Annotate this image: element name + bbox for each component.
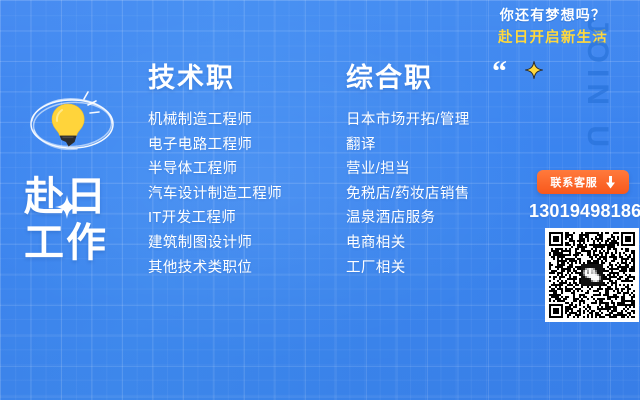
job-item: 电商相关 <box>346 231 470 256</box>
job-column-technical: 技术职 机械制造工程师 电子电路工程师 半导体工程师 汽车设计制造工程师 IT开… <box>148 62 282 280</box>
contact-support-label: 联系客服 <box>550 174 597 190</box>
job-item: 电子电路工程师 <box>148 133 282 158</box>
brand-block: 赴日 工作 <box>0 88 150 266</box>
arrow-down-icon <box>605 176 616 189</box>
job-item: IT开发工程师 <box>148 206 282 231</box>
job-item: 半导体工程师 <box>148 157 282 182</box>
lightbulb-icon <box>22 88 122 160</box>
job-item: 翻译 <box>346 133 470 158</box>
column-heading-technical: 技术职 <box>148 62 282 94</box>
join-us-vertical-text: JOIN U <box>580 17 614 153</box>
job-item: 机械制造工程师 <box>148 108 282 133</box>
lightbulb-badge <box>22 88 122 160</box>
poster-canvas: 赴日 工作 技术职 机械制造工程师 电子电路工程师 半导体工程师 汽车设计制造工… <box>0 0 640 400</box>
quote-mark-icon: “ <box>492 57 506 87</box>
job-item: 日本市场开拓/管理 <box>346 108 470 133</box>
job-item: 营业/担当 <box>346 157 470 182</box>
star-icon <box>524 60 544 80</box>
phone-number[interactable]: 13019498186 <box>529 201 637 222</box>
job-column-general: 综合职 日本市场开拓/管理 翻译 营业/担当 免税店/药妆店销售 温泉酒店服务 … <box>346 62 470 280</box>
wechat-qr-code[interactable] <box>545 228 639 322</box>
sparkle-star-icon <box>52 192 82 222</box>
qr-code-image <box>549 232 635 318</box>
job-list-technical: 机械制造工程师 电子电路工程师 半导体工程师 汽车设计制造工程师 IT开发工程师… <box>148 108 282 280</box>
brand-title-line-2: 工作 <box>24 220 132 266</box>
job-item: 其他技术类职位 <box>148 256 282 281</box>
job-item: 温泉酒店服务 <box>346 206 470 231</box>
column-heading-general: 综合职 <box>346 62 470 94</box>
job-item: 建筑制图设计师 <box>148 231 282 256</box>
job-item: 汽车设计制造工程师 <box>148 182 282 207</box>
job-item: 工厂相关 <box>346 256 470 281</box>
job-list-general: 日本市场开拓/管理 翻译 营业/担当 免税店/药妆店销售 温泉酒店服务 电商相关… <box>346 108 470 280</box>
contact-support-button[interactable]: 联系客服 <box>537 170 629 194</box>
job-item: 免税店/药妆店销售 <box>346 182 470 207</box>
